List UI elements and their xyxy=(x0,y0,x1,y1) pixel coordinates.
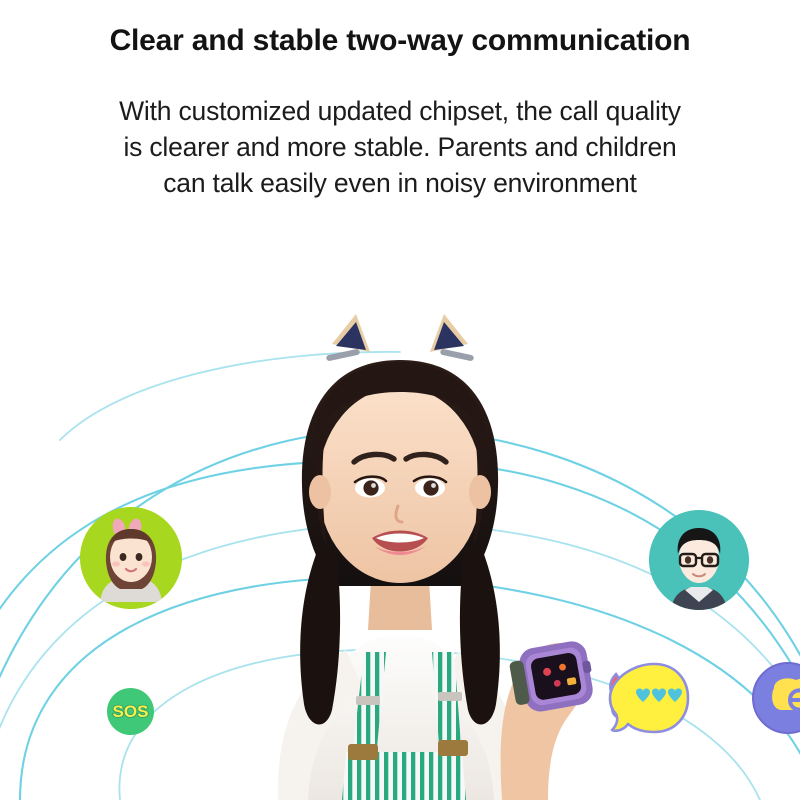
sos-badge-label: SOS xyxy=(113,702,149,722)
wallet-payment-icon[interactable] xyxy=(752,662,800,734)
father-avatar-illustration xyxy=(649,510,749,610)
banner-canvas: Clear and stable two-way communication W… xyxy=(0,0,800,800)
sos-badge[interactable]: SOS xyxy=(107,688,154,735)
chat-bubble-icon[interactable] xyxy=(602,660,690,738)
father-avatar[interactable] xyxy=(649,510,749,610)
mother-avatar[interactable] xyxy=(80,507,182,609)
child-photo xyxy=(150,300,650,800)
mother-avatar-illustration xyxy=(80,507,182,609)
